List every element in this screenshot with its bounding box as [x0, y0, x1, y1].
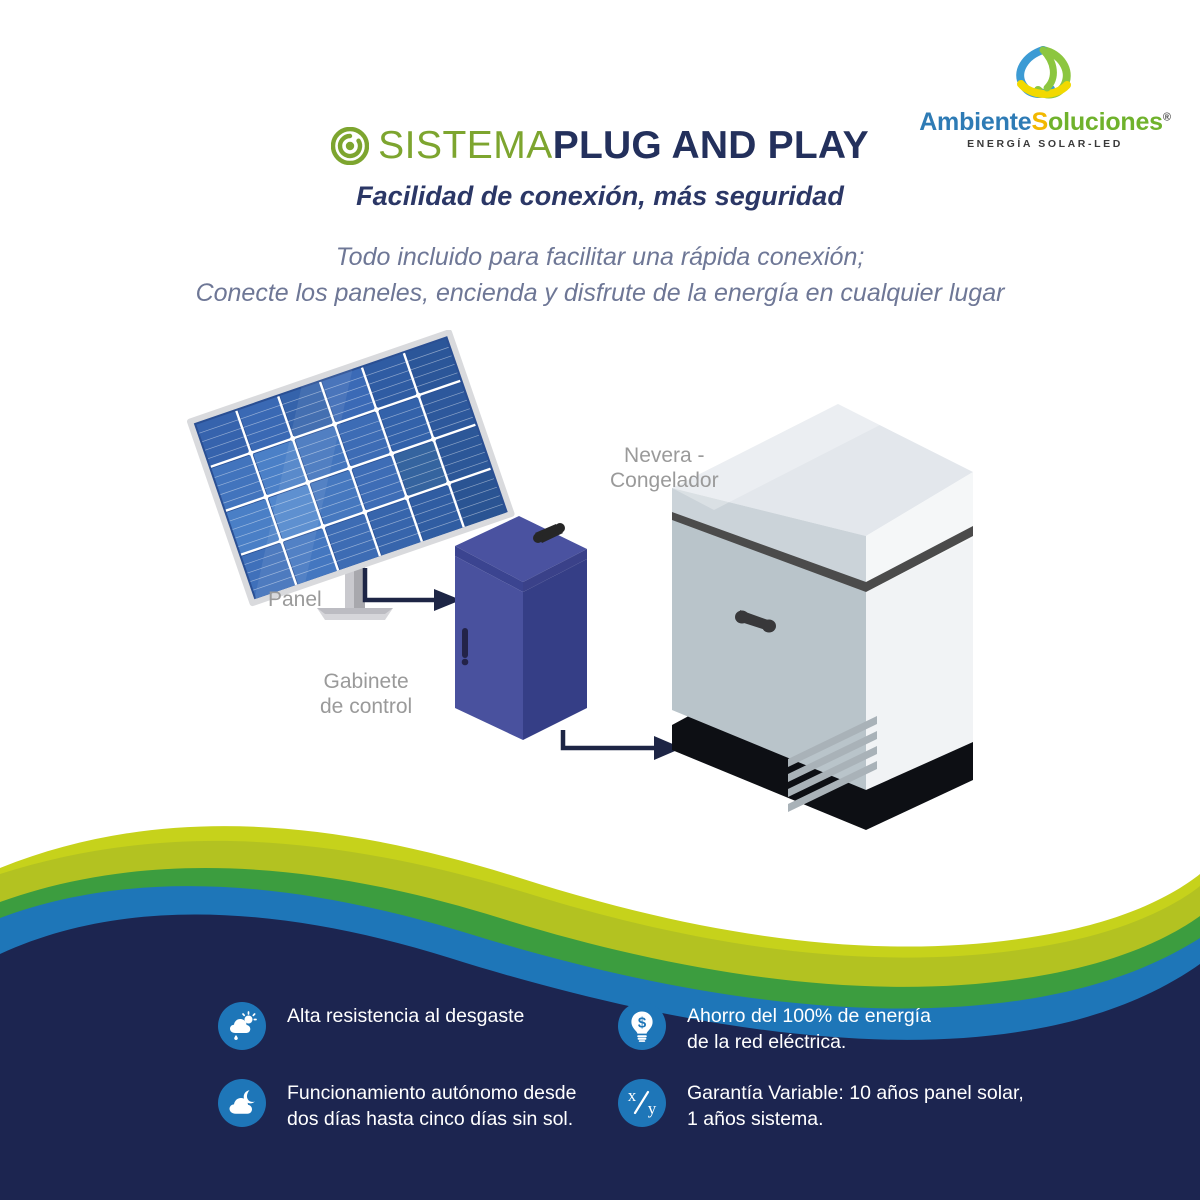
feature-text: Ahorro del 100% de energía de la red elé…	[687, 1000, 931, 1055]
label-nevera-line1: Nevera -	[610, 444, 719, 469]
lead-line-1: Todo incluido para facilitar una rápida …	[0, 239, 1200, 275]
title-sistema: SISTEMA	[378, 124, 553, 167]
feature-text: Garantía Variable: 10 años panel solar, …	[687, 1077, 1024, 1132]
infographic-page: AmbienteSoluciones® ENERGÍA SOLAR-LED SI…	[0, 0, 1200, 1200]
lead-line-2: Conecte los paneles, encienda y disfrute…	[0, 275, 1200, 311]
page-subtitle: Facilidad de conexión, más seguridad	[0, 181, 1200, 212]
feature-item: Alta resistencia al desgaste	[218, 1000, 618, 1062]
x-over-y-denominator: y	[648, 1099, 657, 1118]
x-over-y-numerator: x	[628, 1086, 637, 1105]
x-over-y-icon: x y	[618, 1079, 666, 1127]
lightbulb-dollar-icon: $	[618, 1002, 666, 1050]
cloud-moon-icon	[218, 1079, 266, 1127]
arrow-panel-to-cabinet	[365, 568, 461, 611]
cloud-sun-rain-icon	[218, 1002, 266, 1050]
page-lead-text: Todo incluido para facilitar una rápida …	[0, 239, 1200, 312]
power-circle-icon	[331, 127, 369, 170]
ambiente-soluciones-trefoil-icon	[910, 44, 1180, 108]
label-gabinete-line1: Gabinete	[320, 670, 412, 695]
label-nevera-line2: Congelador	[610, 469, 719, 494]
label-nevera-congelador: Nevera - Congelador	[610, 444, 719, 494]
title-plug-and-play: PLUG AND PLAY	[553, 124, 869, 167]
system-diagram: Panel Gabinete de control Nevera - Conge…	[0, 330, 1200, 830]
feature-item: $ Ahorro del 100% de energía de la red e…	[618, 1000, 1038, 1062]
control-cabinet-graphic	[455, 516, 587, 740]
registered-mark: ®	[1163, 112, 1171, 124]
feature-text: Funcionamiento autónomo desde dos días h…	[287, 1077, 576, 1132]
label-gabinete-de-control: Gabinete de control	[320, 670, 412, 720]
feature-item: Funcionamiento autónomo desde dos días h…	[218, 1077, 618, 1139]
label-gabinete-line2: de control	[320, 695, 412, 720]
label-panel: Panel	[268, 588, 322, 613]
feature-item: x y Garantía Variable: 10 años panel sol…	[618, 1077, 1038, 1139]
page-title: SISTEMAPLUG AND PLAY	[0, 124, 1200, 170]
feature-text: Alta resistencia al desgaste	[287, 1000, 524, 1030]
features-grid: Alta resistencia al desgaste $ Ahorro de	[0, 1000, 1200, 1139]
svg-text:$: $	[638, 1015, 647, 1032]
arrow-cabinet-to-fridge	[563, 730, 682, 760]
